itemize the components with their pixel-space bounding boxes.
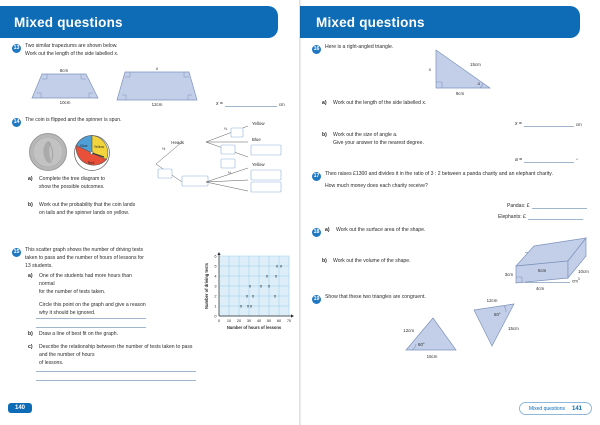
congruent-triangle-left: 12cm 15cm 60°: [388, 300, 464, 362]
trapezium-small-bottom-label: 10cm: [60, 100, 71, 105]
triangle-left-side-a: 12cm: [403, 328, 414, 333]
tree-label-yellow-bottom: Yellow: [252, 162, 265, 167]
subpart-text: Work out the surface area of the shape.: [336, 227, 425, 237]
workbook-spread: Mixed questions 13 Two similar trapezium…: [0, 0, 600, 425]
answer-prefix: a =: [515, 157, 522, 163]
question-number: 14: [12, 118, 21, 127]
subpart-label: a): [322, 100, 329, 108]
congruent-triangle-right: 12cm 15cm 60°: [460, 292, 530, 354]
prism-base-label: 4cm: [536, 286, 545, 291]
trapezium-large: x 12cm: [113, 62, 203, 106]
answer-line-q15c-1[interactable]: [36, 366, 196, 372]
subpart-text: Draw a line of best fit on the graph.: [39, 331, 118, 339]
question-text: The coin is flipped and the spinner is s…: [25, 117, 122, 127]
spinner-illustration: Blue Yellow Red: [73, 134, 111, 172]
tree-label-heads: Heads: [171, 140, 184, 145]
trapezium-small: 8cm 10cm: [28, 62, 106, 106]
svg-text:6: 6: [214, 254, 216, 259]
answer-prefix: Elephants: £: [498, 214, 526, 220]
svg-text:½: ½: [162, 146, 166, 151]
svg-text:70: 70: [287, 318, 292, 323]
question-17: 17 Theo raises £1300 and divides it in t…: [312, 171, 592, 191]
tree-input-prob-tails[interactable]: [158, 169, 172, 178]
left-page: Mixed questions 13 Two similar trapezium…: [0, 0, 300, 425]
answer-line-q16a[interactable]: x = cm: [515, 121, 582, 127]
question-text: Theo raises £1300 and divides it in the …: [325, 171, 553, 191]
answer-unit: °: [576, 158, 578, 163]
scatter-graph[interactable]: 0102030405060700123456Number of hours of…: [193, 250, 293, 342]
svg-text:20: 20: [237, 318, 242, 323]
right-page: Mixed questions 16 Here is a right-angle…: [300, 0, 600, 425]
subpart-label: a): [28, 273, 35, 317]
answer-prefix: Pandas: £: [507, 203, 530, 209]
question-text: This scatter graph shows the number of d…: [25, 247, 144, 271]
answer-line-q15a-2[interactable]: [36, 322, 146, 328]
tree-input-outcome-2[interactable]: [251, 170, 281, 180]
question-number: 15: [12, 248, 21, 257]
question-text: Two similar trapeziums are shown below. …: [25, 43, 118, 59]
question-number: 18: [312, 228, 321, 237]
answer-line-elephants[interactable]: Elephants: £: [498, 214, 583, 220]
page-footer-right: Mixed questions 141: [519, 402, 592, 415]
triangle-right-side-a: 12cm: [487, 298, 498, 303]
tree-input-prob-heads-blue[interactable]: [231, 128, 243, 137]
question-15c: c) Describe the relationship between the…: [28, 344, 198, 368]
question-15a: a) One of the students had more hours th…: [28, 273, 146, 317]
answer-line-q16b[interactable]: a = °: [515, 157, 578, 163]
footer-label: Mixed questions: [529, 406, 565, 412]
page-number-right: 141: [572, 406, 582, 412]
svg-text:1: 1: [214, 304, 216, 309]
question-13: 13 Two similar trapeziums are shown belo…: [12, 43, 192, 59]
question-16b: b) Work out the size of angle a. Give yo…: [322, 132, 502, 148]
question-number: 17: [312, 172, 321, 181]
triangle-left-side-b: 15cm: [427, 354, 438, 359]
svg-text:Number of driving tests: Number of driving tests: [204, 262, 209, 309]
triangular-prism: 3cm 5cm 4cm 10cm: [490, 228, 596, 294]
triangle-base-label: 9cm: [456, 91, 465, 96]
spinner-label-blue: Blue: [80, 144, 87, 148]
spinner-label-red: Red: [88, 161, 95, 165]
answer-unit: cm: [279, 102, 285, 107]
prism-length-label: 10cm: [578, 269, 589, 274]
question-14b: b) Work out the probability that the coi…: [28, 202, 188, 218]
question-14a: a) Complete the tree diagram to show the…: [28, 176, 158, 192]
subpart-text: Work out the probability that the coin l…: [39, 202, 135, 218]
answer-rule[interactable]: [225, 101, 277, 107]
spinner-label-yellow: Yellow: [94, 145, 105, 149]
page-gutter: [299, 0, 301, 425]
right-angled-triangle: 15cm 9cm x a: [418, 44, 504, 96]
trapezium-large-bottom-label: 12cm: [152, 102, 163, 107]
prism-height-label: 3cm: [505, 272, 514, 277]
question-text: Here is a right-angled triangle.: [325, 44, 393, 54]
question-number: 13: [12, 44, 21, 53]
svg-text:4: 4: [214, 274, 217, 279]
subpart-label: b): [322, 258, 329, 266]
answer-unit: cm: [576, 122, 582, 127]
subpart-text: Work out the length of the side labelled…: [333, 100, 426, 108]
probability-tree-diagram[interactable]: Heads ½ ⅓ Yellow Blue ⅓ Ye: [148, 112, 300, 194]
question-18: 18 a) Work out the surface area of the s…: [312, 227, 482, 237]
tree-input-outcome-3[interactable]: [251, 182, 281, 192]
tree-input-prob-heads-extra[interactable]: [221, 159, 235, 168]
svg-text:0: 0: [218, 318, 221, 323]
page-number-left: 140: [8, 403, 32, 413]
answer-line-q15a-1[interactable]: [36, 313, 146, 319]
triangle-right-side-b: 15cm: [508, 326, 519, 331]
answer-line-pandas[interactable]: Pandas: £: [507, 203, 587, 209]
svg-text:2: 2: [214, 294, 216, 299]
question-number: 16: [312, 45, 321, 54]
svg-text:50: 50: [267, 318, 272, 323]
answer-prefix: x =: [216, 101, 223, 107]
triangle-left-angle: 60°: [418, 342, 425, 347]
right-page-header: Mixed questions: [300, 6, 580, 38]
triangle-hypotenuse-label: 15cm: [470, 62, 481, 67]
coin-illustration: [28, 132, 68, 172]
answer-line-q13[interactable]: x = cm: [216, 101, 285, 107]
tree-input-outcome-tails[interactable]: [182, 176, 208, 186]
question-15: 15 This scatter graph shows the number o…: [12, 247, 152, 271]
svg-text:3: 3: [214, 284, 216, 289]
svg-text:30: 30: [247, 318, 252, 323]
tree-label-blue: Blue: [252, 137, 261, 142]
subpart-text: Complete the tree diagram to show the po…: [39, 176, 105, 192]
subpart-label: b): [28, 331, 35, 339]
triangle-right-angle: 60°: [494, 312, 501, 317]
subpart-text: One of the students had more hours than …: [39, 273, 146, 317]
tree-label-yellow-top: Yellow: [252, 121, 265, 126]
question-18b: b) Work out the volume of the shape.: [322, 258, 492, 266]
tree-input-outcome-1[interactable]: [251, 145, 281, 155]
subpart-label: a): [28, 176, 35, 192]
question-16a: a) Work out the length of the side label…: [322, 100, 492, 108]
svg-text:5: 5: [214, 264, 216, 269]
left-page-header: Mixed questions: [0, 6, 278, 38]
svg-text:⅓: ⅓: [224, 126, 228, 131]
answer-line-q15c-2[interactable]: [36, 375, 196, 381]
subpart-label: b): [28, 202, 35, 218]
triangle-vertical-label: x: [428, 67, 432, 72]
subpart-label: c): [28, 344, 35, 368]
svg-text:60: 60: [277, 318, 282, 323]
left-page-title: Mixed questions: [14, 15, 123, 30]
question-number: 19: [312, 295, 321, 304]
trapezium-large-top-label: x: [155, 66, 159, 71]
svg-text:⅓: ⅓: [228, 170, 232, 175]
question-15b: b) Draw a line of best fit on the graph.: [28, 331, 158, 339]
right-page-title: Mixed questions: [316, 15, 425, 30]
svg-text:0: 0: [214, 314, 217, 319]
answer-prefix: x =: [515, 121, 522, 127]
trapezium-small-top-label: 8cm: [60, 68, 69, 73]
svg-text:40: 40: [257, 318, 262, 323]
svg-text:10: 10: [227, 318, 232, 323]
subpart-label: a): [325, 227, 332, 237]
subpart-label: b): [322, 132, 329, 148]
tree-input-prob-heads-red[interactable]: [221, 145, 235, 154]
subpart-text: Work out the volume of the shape.: [333, 258, 411, 266]
subpart-text: Describe the relationship between the nu…: [39, 344, 198, 368]
prism-slope-label: 5cm: [538, 268, 547, 273]
svg-text:Number of hours of lessons: Number of hours of lessons: [227, 325, 282, 330]
subpart-text: Work out the size of angle a. Give your …: [333, 132, 424, 148]
